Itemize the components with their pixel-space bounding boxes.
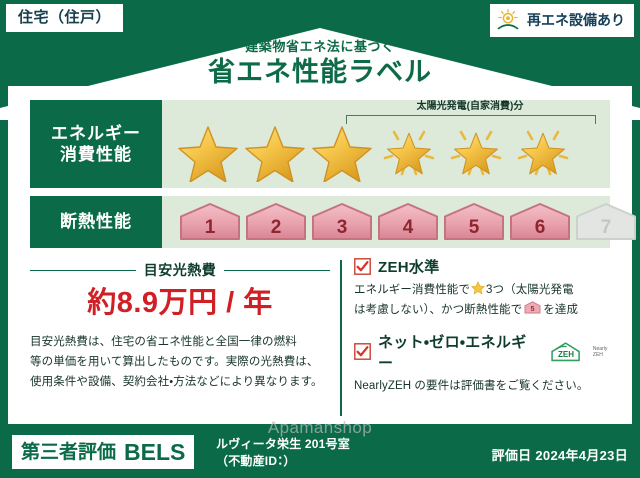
energy-performance-label-block: エネルギー 消費性能 <box>30 100 162 188</box>
insulation-performance-label-block: 断熱性能 <box>30 196 162 248</box>
zeh-desc-part2: 3つ（太陽光発電 <box>486 284 574 296</box>
insulation-level-4-achieved: 4 <box>376 201 440 243</box>
zeh-desc-part3: は考慮しない）、かつ断熱性能で <box>354 304 522 316</box>
house-type-badge-label: 住宅（住戸） <box>18 9 111 26</box>
svg-text:3: 3 <box>337 217 348 238</box>
insulation-rating-area: 1234567 <box>162 196 610 248</box>
evaluation-date: 評価日 2024年4月23日 <box>492 445 628 464</box>
energy-rating-area: 太陽光発電(自家消費)分 <box>162 100 610 188</box>
zeh-desc-part1: エネルギー消費性能で <box>354 284 470 296</box>
energy-label-line2: 消費性能 <box>60 144 132 165</box>
star-icon-filled <box>310 120 374 182</box>
svg-text:5: 5 <box>469 217 480 238</box>
energy-performance-label: 住宅（住戸） 再エネ設備あり 建築物省エネ法に基づく 省エネ性能ラベル エネルギ… <box>0 0 640 478</box>
insulation-level-5-icon: 5 <box>524 301 541 314</box>
utility-cost-note-line3: 使用条件や設備、契約会社・方法などにより異なります。 <box>30 372 330 392</box>
details-section: 目安光熱費 約8.9万円 / 年 目安光熱費は、住宅の省エネ性能と全国一律の燃料… <box>8 256 632 424</box>
star-icon <box>471 281 485 295</box>
star-icon-solar <box>511 120 575 182</box>
net-zero-description: NearlyZEH の要件は評価書をご覧ください。 <box>354 376 618 396</box>
renewable-badge-label: 再エネ設備あり <box>527 13 625 27</box>
insulation-level-5-achieved: 5 <box>442 201 506 243</box>
heading-rule-right <box>224 270 330 271</box>
utility-cost-note-line1: 目安光熱費は、住宅の省エネ性能と全国一律の燃料 <box>30 332 330 352</box>
bels-certification-logo: 第三者評価 BELS <box>12 435 194 469</box>
star-icon-solar <box>444 120 508 182</box>
bels-en-label: BELS <box>124 441 185 464</box>
zeh-standard-title: ZEH水準 <box>378 256 440 277</box>
zeh-standard-item: ZEH水準 エネルギー消費性能で3つ（太陽光発電は考慮しない）、かつ断熱性能で5… <box>354 256 618 321</box>
utility-cost-heading: 目安光熱費 <box>30 260 330 280</box>
star-icon-filled <box>243 120 307 182</box>
svg-text:7: 7 <box>601 217 612 238</box>
renewable-equipment-badge: 再エネ設備あり <box>490 4 634 37</box>
svg-text:2: 2 <box>271 217 282 238</box>
property-realestate-id: （不動産ID：） <box>216 453 350 470</box>
zeh-desc-part4: を達成 <box>543 304 578 316</box>
bels-jp-label: 第三者評価 <box>21 443 116 462</box>
insulation-level-2-achieved: 2 <box>244 201 308 243</box>
utility-cost-note: 目安光熱費は、住宅の省エネ性能と全国一律の燃料 等の単価を用いて算出したものです… <box>30 332 330 392</box>
energy-label-line1: エネルギー <box>51 123 141 144</box>
house-type-badge: 住宅（住戸） <box>6 4 123 32</box>
zeh-standard-description: エネルギー消費性能で3つ（太陽光発電は考慮しない）、かつ断熱性能で5を達成 <box>354 280 618 321</box>
utility-cost-amount: 約8.9万円 / 年 <box>30 289 330 318</box>
insulation-level-scale: 1234567 <box>178 201 638 243</box>
label-body: エネルギー 消費性能 太陽光発電(自家消費)分 断熱性能 1234567 <box>8 86 632 424</box>
star-icon-solar <box>377 120 441 182</box>
insulation-level-7-inactive: 7 <box>574 201 638 243</box>
insulation-level-6-achieved: 6 <box>508 201 572 243</box>
property-name: ルヴィータ栄生 201号室 <box>216 436 350 453</box>
svg-text:1: 1 <box>205 217 216 238</box>
zeh-standard-title-row: ZEH水準 <box>354 256 618 277</box>
energy-star-rating <box>176 120 575 182</box>
insulation-performance-row: 断熱性能 1234567 <box>30 196 610 248</box>
utility-cost-column: 目安光熱費 約8.9万円 / 年 目安光熱費は、住宅の省エネ性能と全国一律の燃料… <box>30 256 330 392</box>
checkbox-checked-icon <box>354 258 371 275</box>
insulation-level-1-achieved: 1 <box>178 201 242 243</box>
insulation-level-3-achieved: 3 <box>310 201 374 243</box>
zeh-house-logo-icon: ZEH <box>547 341 586 363</box>
svg-text:ZEH: ZEH <box>558 350 574 359</box>
checkbox-checked-icon <box>354 343 371 360</box>
zeh-column: ZEH水準 エネルギー消費性能で3つ（太陽光発電は考慮しない）、かつ断熱性能で5… <box>354 256 618 400</box>
svg-text:4: 4 <box>403 217 414 238</box>
column-divider <box>340 260 342 416</box>
utility-cost-note-line2: 等の単価を用いて算出したものです。実際の光熱費は、 <box>30 352 330 372</box>
net-zero-title: ネット・ゼロ・エネルギー <box>378 331 537 373</box>
energy-performance-row: エネルギー 消費性能 太陽光発電(自家消費)分 <box>30 100 610 188</box>
net-zero-title-row: ネット・ゼロ・エネルギー ZEH Nearly ZEH <box>354 331 618 373</box>
svg-text:6: 6 <box>535 217 546 238</box>
svg-text:5: 5 <box>531 305 535 313</box>
solar-generation-note: 太陽光発電(自家消費)分 <box>344 102 596 112</box>
net-zero-energy-item: ネット・ゼロ・エネルギー ZEH Nearly ZEH NearlyZEH の要… <box>354 331 618 396</box>
star-icon-filled <box>176 120 240 182</box>
property-info: ルヴィータ栄生 201号室 （不動産ID：） <box>216 436 350 470</box>
zeh-logo-sublabel: Nearly ZEH <box>593 346 618 358</box>
sun-solar-icon <box>496 8 522 32</box>
insulation-label: 断熱性能 <box>60 211 132 232</box>
label-footer: 第三者評価 BELS ルヴィータ栄生 201号室 （不動産ID：） 評価日 20… <box>0 428 640 478</box>
heading-rule-left <box>30 270 136 271</box>
utility-cost-heading-label: 目安光熱費 <box>144 260 217 280</box>
